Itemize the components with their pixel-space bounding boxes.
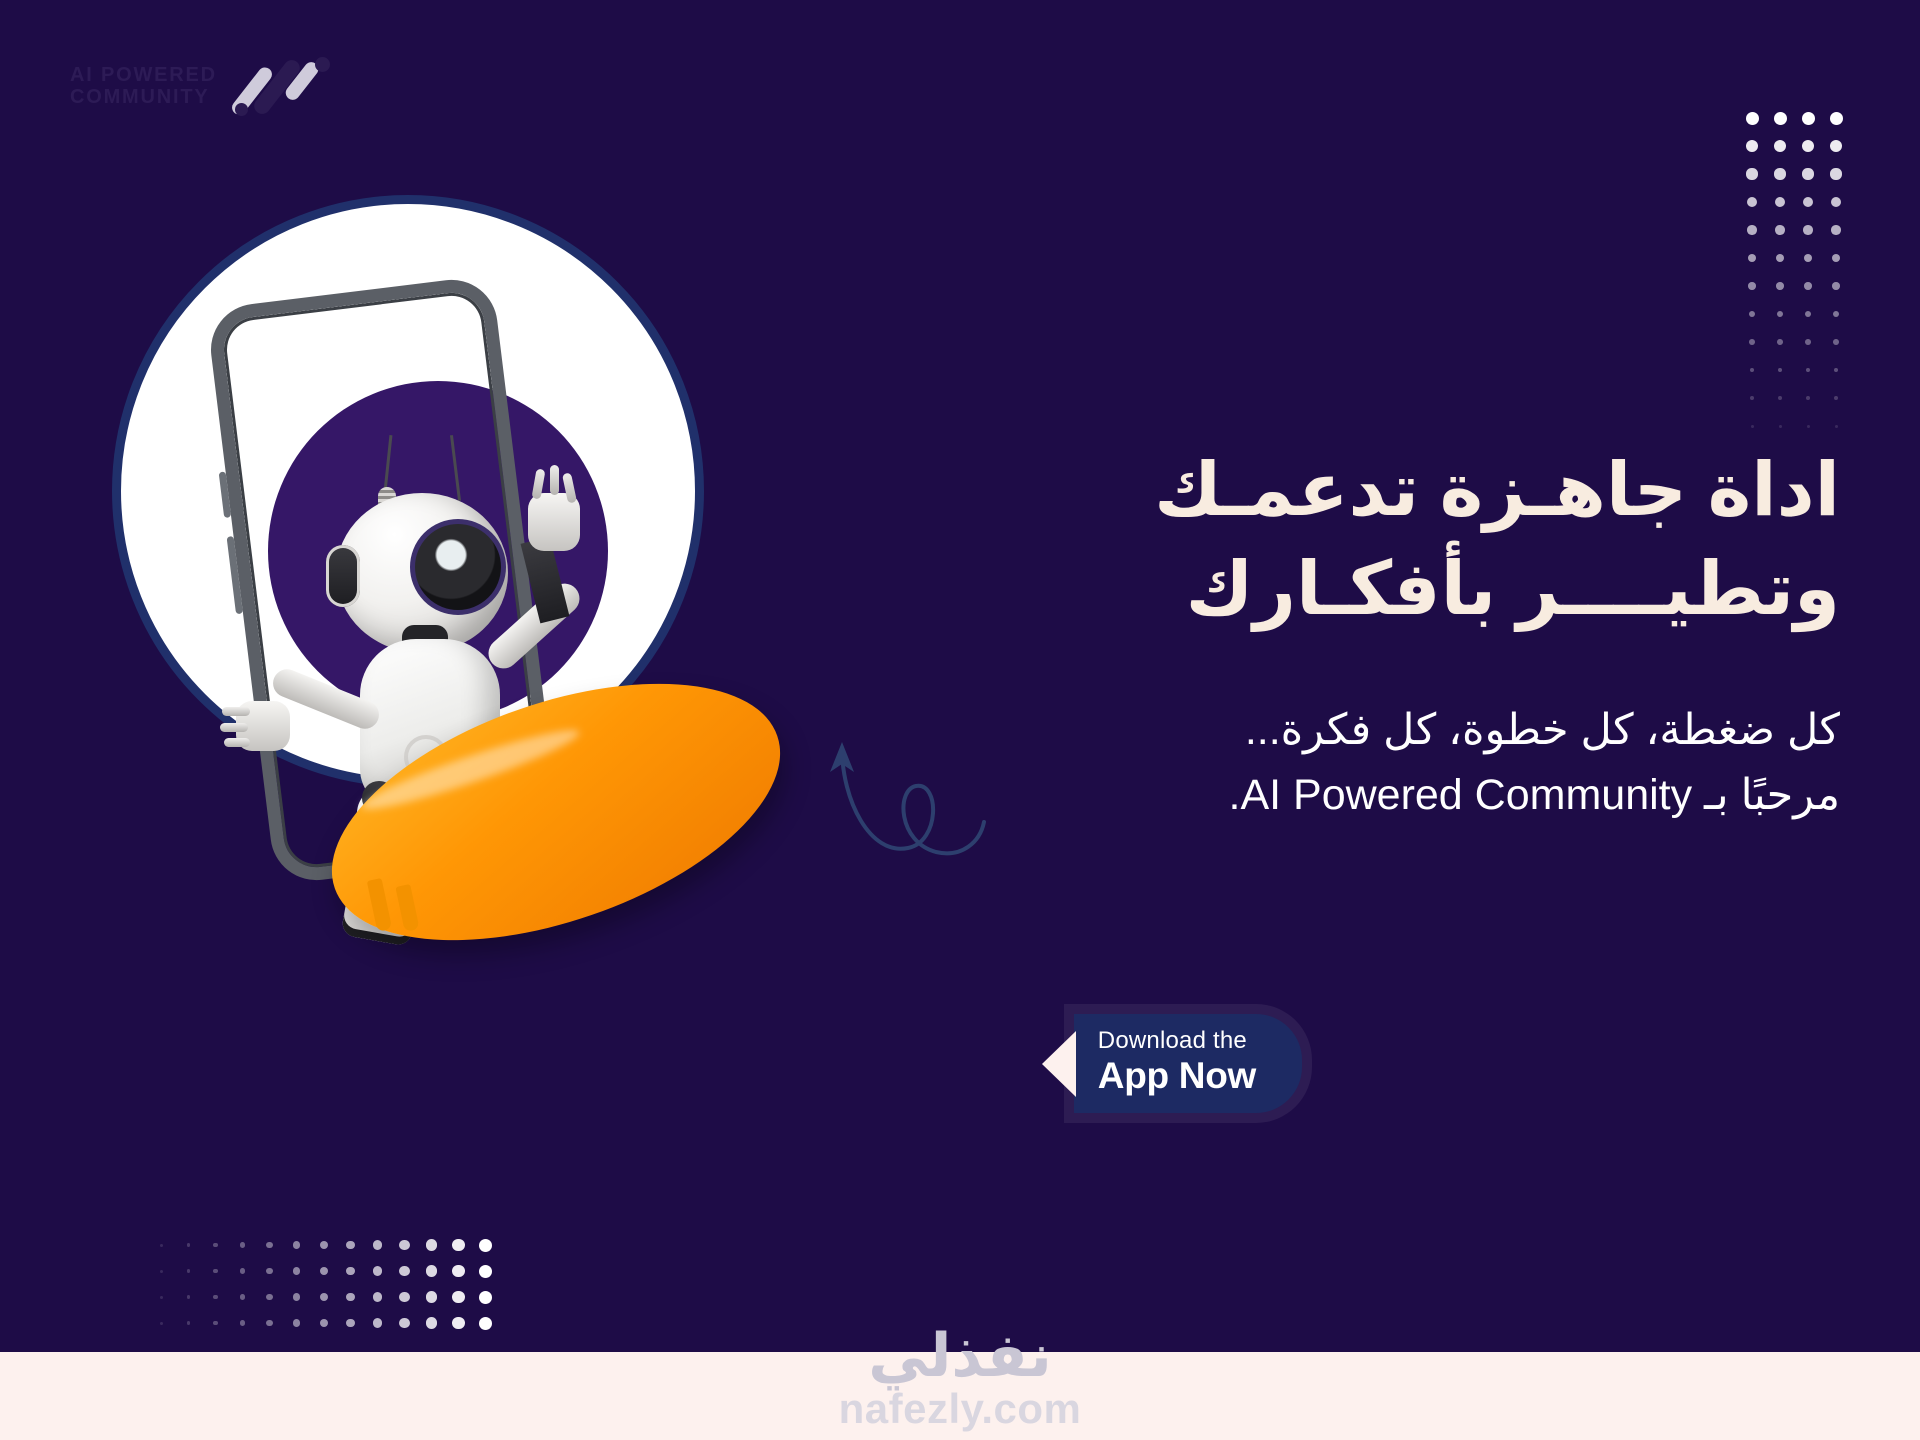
grid-dot: [1802, 140, 1814, 152]
grid-dot: [1779, 425, 1782, 428]
grid-dot: [1747, 197, 1757, 207]
grid-dot: [1806, 368, 1811, 373]
grid-dot: [240, 1242, 246, 1248]
brand-line-2: COMMUNITY: [70, 86, 217, 108]
grid-dot: [346, 1267, 355, 1276]
grid-dot: [1749, 339, 1755, 345]
grid-dot: [373, 1292, 383, 1302]
grid-dot: [1830, 112, 1843, 125]
cta-big-label: App Now: [1098, 1055, 1256, 1096]
grid-dot: [1748, 254, 1757, 263]
grid-dot: [399, 1292, 410, 1303]
grid-dot: [399, 1266, 410, 1277]
grid-dot: [1776, 254, 1785, 263]
grid-dot: [1747, 225, 1756, 234]
subtitle-line-2: مرحبًا بـ AI Powered Community.: [960, 763, 1840, 828]
download-cta[interactable]: Download the App Now: [1042, 1014, 1302, 1113]
dot-grid-bottom-left: [148, 1232, 499, 1336]
grid-dot: [1832, 282, 1840, 290]
grid-dot: [1778, 396, 1782, 400]
grid-dot: [1830, 168, 1841, 179]
grid-dot: [240, 1294, 246, 1300]
grid-dot: [1778, 368, 1783, 373]
grid-dot: [266, 1242, 272, 1248]
logo-slashes-icon: [233, 55, 325, 117]
grid-dot: [1750, 396, 1754, 400]
grid-dot: [1834, 396, 1838, 400]
grid-dot: [1805, 311, 1812, 318]
grid-dot: [240, 1320, 246, 1326]
subtitle: كل ضغطة، كل خطوة، كل فكرة... مرحبًا بـ A…: [960, 698, 1840, 827]
grid-dot: [1774, 140, 1786, 152]
grid-dot: [1806, 396, 1810, 400]
grid-dot: [1751, 425, 1754, 428]
grid-dot: [399, 1318, 410, 1329]
grid-dot: [1777, 339, 1783, 345]
grid-dot: [479, 1291, 492, 1304]
grid-dot: [1749, 311, 1756, 318]
grid-dot: [373, 1266, 383, 1276]
grid-dot: [160, 1296, 163, 1299]
grid-dot: [452, 1317, 464, 1329]
subtitle-line-1: كل ضغطة، كل خطوة، كل فكرة...: [960, 698, 1840, 763]
grid-dot: [373, 1240, 383, 1250]
grid-dot: [452, 1265, 464, 1277]
grid-dot: [426, 1239, 437, 1250]
grid-dot: [373, 1318, 383, 1328]
grid-dot: [399, 1240, 410, 1251]
grid-dot: [266, 1320, 272, 1326]
grid-dot: [426, 1317, 437, 1328]
grid-dot: [479, 1265, 492, 1278]
grid-dot: [1803, 197, 1813, 207]
grid-dot: [1804, 254, 1813, 263]
grid-dot: [266, 1268, 272, 1274]
grid-dot: [1803, 225, 1812, 234]
page-title: اداة جاهـزة تدعمـك وتطيــــر بأفكـارك: [960, 440, 1840, 638]
grid-dot: [346, 1241, 355, 1250]
grid-dot: [213, 1321, 218, 1326]
grid-dot: [426, 1291, 437, 1302]
grid-dot: [1835, 425, 1838, 428]
grid-dot: [1746, 140, 1758, 152]
grid-dot: [1774, 112, 1787, 125]
grid-dot: [346, 1293, 355, 1302]
grid-dot: [1805, 339, 1811, 345]
grid-dot: [1831, 225, 1840, 234]
grid-dot: [1776, 282, 1784, 290]
brand-wordmark: AI POWERED COMMUNITY: [70, 64, 217, 109]
grid-dot: [293, 1267, 300, 1274]
grid-dot: [1777, 311, 1784, 318]
robot-pointing-hand: [528, 493, 580, 551]
grid-dot: [240, 1268, 246, 1274]
grid-dot: [1748, 282, 1756, 290]
grid-dot: [187, 1269, 191, 1273]
play-triangle-icon: [1042, 1031, 1076, 1097]
grid-dot: [1775, 197, 1785, 207]
grid-dot: [293, 1293, 300, 1300]
grid-dot: [346, 1319, 355, 1328]
grid-dot: [479, 1317, 492, 1330]
grid-dot: [266, 1294, 272, 1300]
grid-dot: [1750, 368, 1755, 373]
grid-dot: [160, 1270, 163, 1273]
grid-dot: [213, 1269, 218, 1274]
grid-dot: [293, 1319, 300, 1326]
headline-line-1: اداة جاهـزة تدعمـك: [960, 440, 1840, 539]
grid-dot: [426, 1265, 437, 1276]
grid-dot: [293, 1241, 300, 1248]
grid-dot: [320, 1267, 328, 1275]
grid-dot: [160, 1244, 163, 1247]
headline-line-2: وتطيــــر بأفكـارك: [960, 539, 1840, 638]
grid-dot: [1802, 112, 1815, 125]
promo-banner-canvas: AI POWERED COMMUNITY: [0, 0, 1920, 1440]
grid-dot: [320, 1241, 328, 1249]
grid-dot: [452, 1239, 464, 1251]
grid-dot: [1831, 197, 1841, 207]
download-app-button[interactable]: Download the App Now: [1074, 1014, 1302, 1113]
grid-dot: [1746, 112, 1759, 125]
grid-dot: [1802, 168, 1813, 179]
grid-dot: [1833, 311, 1840, 318]
cta-small-label: Download the: [1098, 1028, 1256, 1055]
copy-block: اداة جاهـزة تدعمـك وتطيــــر بأفكـارك كل…: [960, 440, 1840, 827]
grid-dot: [1834, 368, 1839, 373]
footer-strip: [0, 1352, 1920, 1440]
grid-dot: [1804, 282, 1812, 290]
grid-dot: [213, 1295, 218, 1300]
grid-dot: [479, 1239, 492, 1252]
grid-dot: [320, 1293, 328, 1301]
brand-logo[interactable]: AI POWERED COMMUNITY: [70, 48, 325, 124]
grid-dot: [187, 1295, 191, 1299]
brand-line-1: AI POWERED: [70, 64, 217, 86]
grid-dot: [1746, 168, 1757, 179]
hero-illustration: [100, 185, 820, 1005]
grid-dot: [1774, 168, 1785, 179]
grid-dot: [1775, 225, 1784, 234]
dot-grid-top-right: [1738, 104, 1850, 440]
grid-dot: [1807, 425, 1810, 428]
grid-dot: [1830, 140, 1842, 152]
grid-dot: [320, 1319, 328, 1327]
grid-dot: [187, 1321, 191, 1325]
grid-dot: [1832, 254, 1841, 263]
grid-dot: [160, 1322, 163, 1325]
grid-dot: [452, 1291, 464, 1303]
robot-eye-icon: [410, 519, 506, 615]
grid-dot: [187, 1243, 191, 1247]
grid-dot: [1833, 339, 1839, 345]
grid-dot: [213, 1243, 218, 1248]
